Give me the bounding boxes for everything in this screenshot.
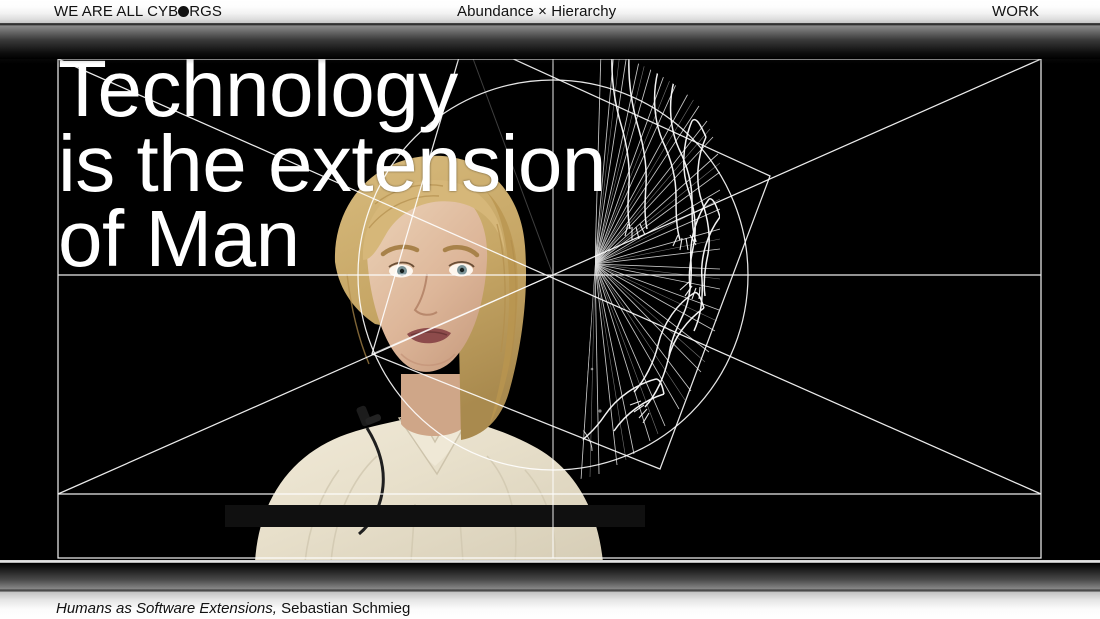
nav-site-title-part2: RGS <box>189 3 222 20</box>
caption-text[interactable]: Humans as Software Extensions, Sebastian… <box>56 600 410 618</box>
nav-item-work[interactable]: WORK <box>992 3 1039 20</box>
bottom-divider-upper <box>0 560 1100 563</box>
headline-line-2: is the extension <box>58 126 606 201</box>
top-navigation-bar: WE ARE ALL CYBRGS Abundance × Hierarchy … <box>0 0 1100 23</box>
slide-headline: Technology is the extension of Man <box>58 51 606 276</box>
video-control-bar[interactable] <box>225 505 645 527</box>
caption-bar: Humans as Software Extensions, Sebastian… <box>0 592 1100 619</box>
nav-item-site-title[interactable]: WE ARE ALL CYBRGS <box>54 3 222 20</box>
nav-site-title-part1: WE ARE ALL CYB <box>54 3 178 20</box>
filled-circle-icon <box>178 6 189 17</box>
caption-work-title: Humans as Software Extensions, <box>56 600 277 617</box>
bottom-fade <box>0 563 1100 590</box>
video-canvas[interactable]: Technology is the extension of Man <box>0 24 1100 562</box>
top-bar-divider <box>0 23 1100 26</box>
top-bar-fade <box>0 26 1100 59</box>
caption-author: Sebastian Schmieg <box>281 600 410 617</box>
headline-line-1: Technology <box>58 51 606 126</box>
nav-item-chapter-title[interactable]: Abundance × Hierarchy <box>457 3 616 20</box>
presentation-slide: Technology is the extension of Man <box>0 0 1100 619</box>
headline-line-3: of Man <box>58 201 606 276</box>
